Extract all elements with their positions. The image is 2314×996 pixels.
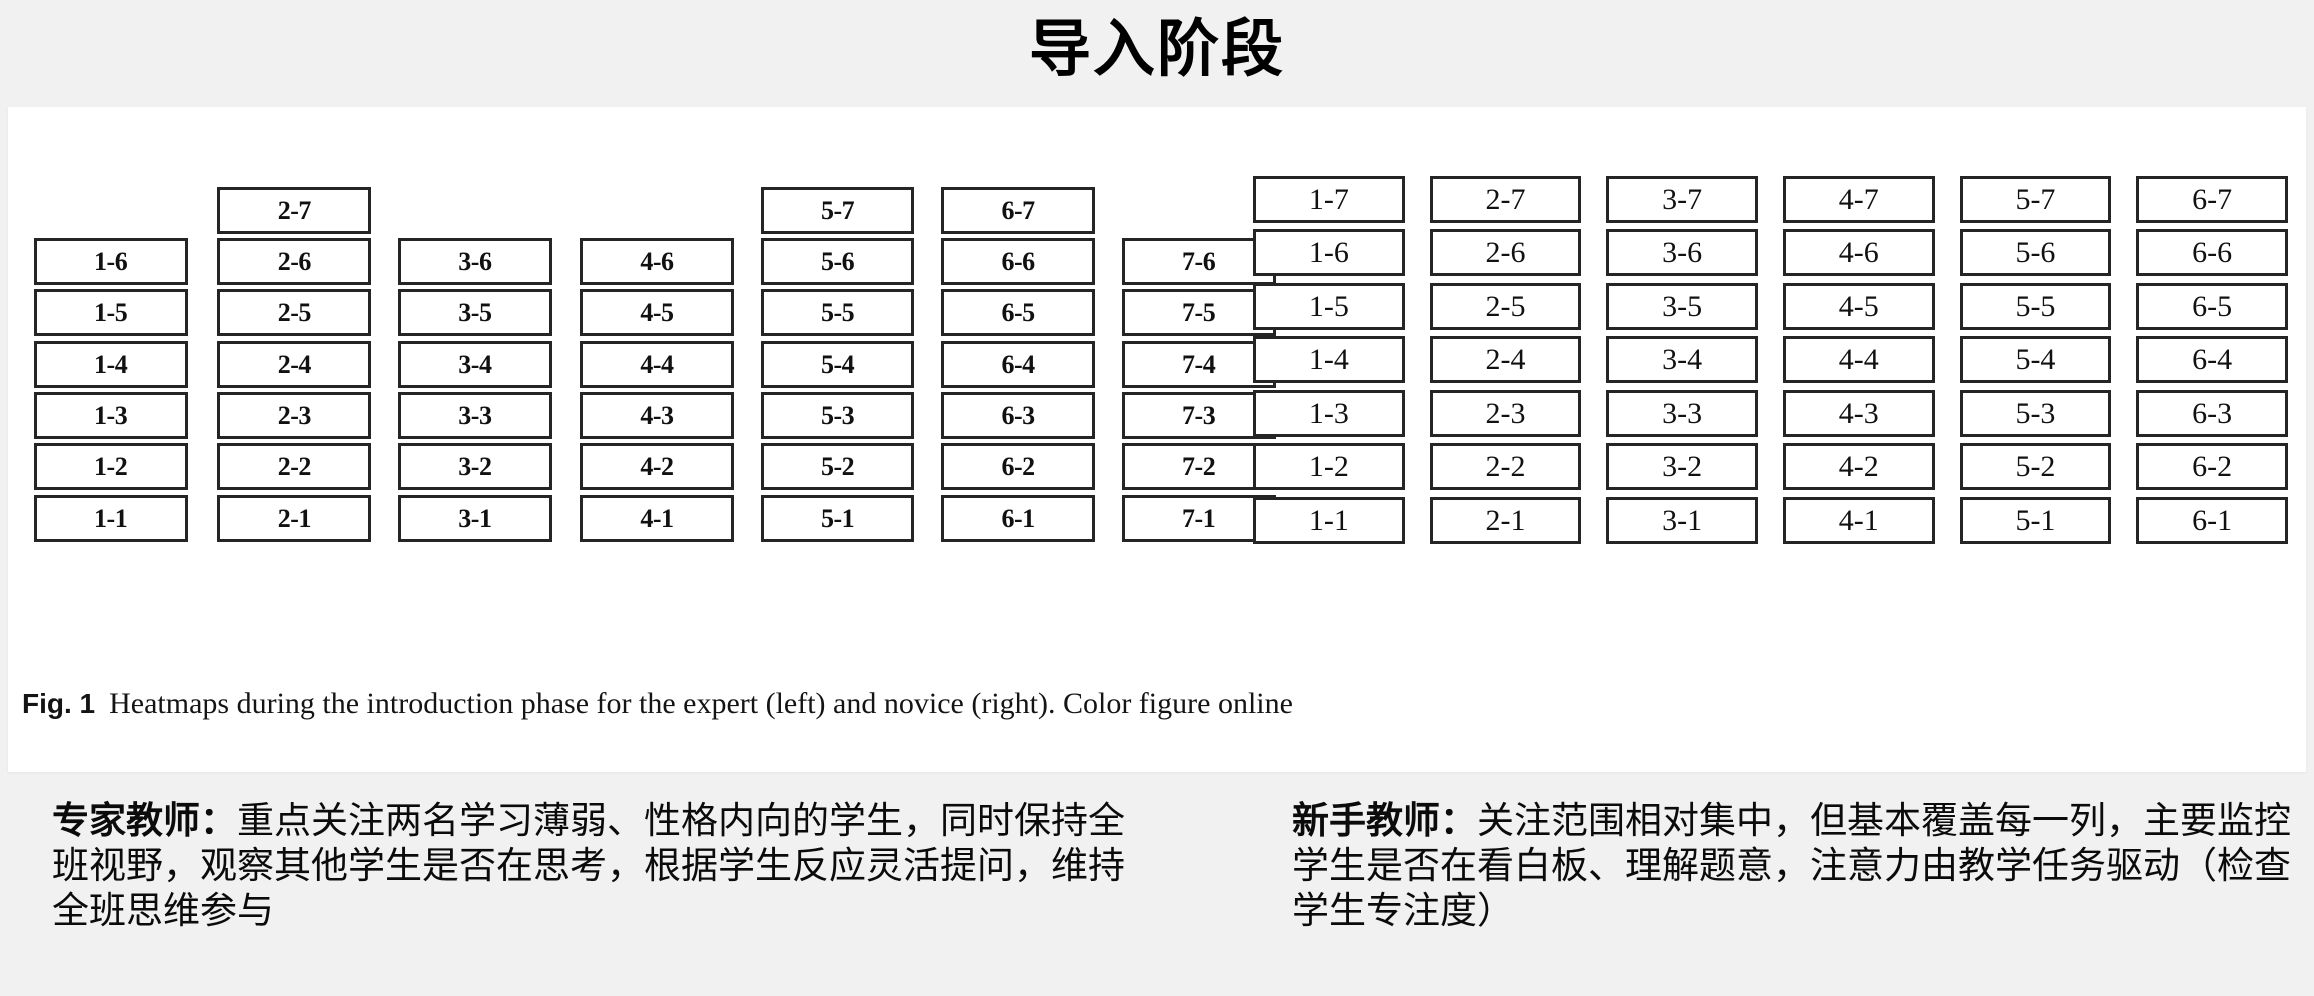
seat-cell[interactable]: 3-3 [1606, 390, 1758, 437]
seat-cell[interactable]: 6-7 [941, 187, 1095, 234]
seat-label: 4-2 [640, 454, 673, 480]
seat-cell[interactable]: 2-4 [217, 341, 371, 388]
seat-label: 3-4 [458, 352, 491, 378]
seat-label: 5-2 [2015, 452, 2055, 482]
seat-label: 1-3 [94, 403, 127, 429]
seat-label: 6-6 [1002, 249, 1035, 275]
seat-cell[interactable]: 5-2 [761, 443, 915, 490]
seat-cell[interactable]: 4-5 [580, 289, 734, 336]
seat-cell[interactable]: 1-3 [1253, 390, 1405, 437]
seat-label: 1-6 [94, 249, 127, 275]
seat-label: 3-6 [458, 249, 491, 275]
seat-cell[interactable]: 2-6 [217, 238, 371, 285]
seat-label: 6-4 [1002, 352, 1035, 378]
seat-cell[interactable]: 6-1 [2136, 497, 2288, 544]
seat-label: 2-5 [1486, 292, 1526, 322]
seat-cell[interactable]: 2-7 [217, 187, 371, 234]
seat-cell[interactable]: 5-3 [1960, 390, 2112, 437]
seat-label: 6-5 [2192, 292, 2232, 322]
seat-label: 3-4 [1662, 345, 1702, 375]
seat-label: 6-3 [1002, 403, 1035, 429]
seat-label: 2-2 [1486, 452, 1526, 482]
seat-cell[interactable]: 1-2 [34, 443, 188, 490]
seat-label: 2-5 [278, 300, 311, 326]
seat-label: 2-4 [278, 352, 311, 378]
seat-cell[interactable]: 6-3 [941, 392, 1095, 439]
seat-cell[interactable]: 2-5 [1430, 283, 1582, 330]
seat-label: 7-3 [1182, 403, 1215, 429]
seat-label: 7-5 [1182, 300, 1215, 326]
seat-cell[interactable]: 3-4 [398, 341, 552, 388]
seat-cell[interactable]: 6-4 [941, 341, 1095, 388]
seat-label: 7-2 [1182, 454, 1215, 480]
seat-cell[interactable]: 5-5 [761, 289, 915, 336]
seat-cell[interactable]: 1-6 [34, 238, 188, 285]
seat-cell[interactable]: 2-2 [1430, 443, 1582, 490]
seat-label: 4-7 [1839, 185, 1879, 215]
seat-cell[interactable]: 6-1 [941, 495, 1095, 542]
seat-cell[interactable]: 3-4 [1606, 336, 1758, 383]
seat-label: 4-3 [1839, 399, 1879, 429]
figure-caption: Fig. 1Heatmaps during the introduction p… [22, 687, 2292, 721]
seat-cell[interactable]: 5-1 [1960, 497, 2112, 544]
seat-cell[interactable]: 2-6 [1430, 229, 1582, 276]
seat-label: 3-7 [1662, 185, 1702, 215]
seat-label: 4-5 [1839, 292, 1879, 322]
seat-label: 6-4 [2192, 345, 2232, 375]
seat-label: 6-1 [1002, 506, 1035, 532]
seat-cell[interactable]: 5-1 [761, 495, 915, 542]
seat-label: 2-3 [278, 403, 311, 429]
seat-cell[interactable]: 5-4 [1960, 336, 2112, 383]
seat-label: 2-7 [278, 198, 311, 224]
seat-label: 2-3 [1486, 399, 1526, 429]
seat-label: 6-6 [2192, 238, 2232, 268]
seat-label: 5-1 [2015, 506, 2055, 536]
seat-cell[interactable]: 6-5 [2136, 283, 2288, 330]
seat-label: 1-1 [94, 506, 127, 532]
seat-cell[interactable]: 5-2 [1960, 443, 2112, 490]
seat-cell[interactable]: 1-7 [1253, 176, 1405, 223]
seat-cell[interactable]: 4-5 [1783, 283, 1935, 330]
seat-cell[interactable]: 1-5 [34, 289, 188, 336]
seat-cell[interactable]: 2-1 [1430, 497, 1582, 544]
seat-label: 4-4 [640, 352, 673, 378]
seat-label: 6-5 [1002, 300, 1035, 326]
seat-cell[interactable]: 3-5 [398, 289, 552, 336]
seat-label: 6-1 [2192, 506, 2232, 536]
seat-label: 5-6 [821, 249, 854, 275]
seat-cell[interactable]: 1-5 [1253, 283, 1405, 330]
seat-label: 4-6 [640, 249, 673, 275]
seat-cell[interactable]: 1-3 [34, 392, 188, 439]
note-novice: 新手教师：关注范围相对集中，但基本覆盖每一列，主要监控学生是否在看白板、理解题意… [1292, 798, 2292, 933]
seat-label: 1-2 [94, 454, 127, 480]
seat-label: 3-6 [1662, 238, 1702, 268]
seat-label: 3-3 [458, 403, 491, 429]
seat-cell[interactable]: 3-6 [398, 238, 552, 285]
seat-cell[interactable]: 1-6 [1253, 229, 1405, 276]
seat-label: 1-4 [1309, 345, 1349, 375]
seat-label: 5-1 [821, 506, 854, 532]
seat-cell[interactable]: 6-4 [2136, 336, 2288, 383]
seat-cell[interactable]: 2-3 [217, 392, 371, 439]
seat-label: 5-4 [821, 352, 854, 378]
seat-cell[interactable]: 3-1 [1606, 497, 1758, 544]
seat-cell[interactable]: 3-6 [1606, 229, 1758, 276]
seat-label: 2-6 [1486, 238, 1526, 268]
seat-label: 5-4 [2015, 345, 2055, 375]
seat-label: 6-2 [1002, 454, 1035, 480]
seat-cell[interactable]: 6-5 [941, 289, 1095, 336]
seat-cell[interactable]: 5-4 [761, 341, 915, 388]
seat-label: 1-7 [1309, 185, 1349, 215]
seat-label: 3-1 [458, 506, 491, 532]
seat-label: 3-3 [1662, 399, 1702, 429]
seat-label: 1-4 [94, 352, 127, 378]
seat-cell[interactable]: 2-1 [217, 495, 371, 542]
seat-label: 1-5 [94, 300, 127, 326]
seat-cell[interactable]: 6-2 [2136, 443, 2288, 490]
seat-label: 5-7 [821, 198, 854, 224]
seat-cell[interactable]: 4-1 [580, 495, 734, 542]
heatmap-panel-expert: 2-75-76-71-62-63-64-65-66-67-61-52-53-54… [18, 107, 1213, 667]
seat-cell[interactable]: 6-7 [2136, 176, 2288, 223]
seat-label: 2-4 [1486, 345, 1526, 375]
figure-card: 2-75-76-71-62-63-64-65-66-67-61-52-53-54… [8, 107, 2306, 772]
seat-label: 5-3 [821, 403, 854, 429]
seat-label: 3-1 [1662, 506, 1702, 536]
seat-label: 2-1 [1486, 506, 1526, 536]
seat-cell[interactable]: 1-2 [1253, 443, 1405, 490]
seat-label: 4-3 [640, 403, 673, 429]
seat-cell[interactable]: 3-2 [1606, 443, 1758, 490]
seat-label: 1-6 [1309, 238, 1349, 268]
seat-cell[interactable]: 6-2 [941, 443, 1095, 490]
seat-label: 4-1 [640, 506, 673, 532]
heatmap-panel-novice: 1-72-73-74-75-76-71-62-63-64-65-66-61-52… [1253, 107, 2298, 667]
seat-cell[interactable]: 4-3 [1783, 390, 1935, 437]
seat-cell[interactable]: 4-4 [580, 341, 734, 388]
seat-cell[interactable]: 1-4 [1253, 336, 1405, 383]
seat-label: 4-6 [1839, 238, 1879, 268]
seat-label: 4-2 [1839, 452, 1879, 482]
seat-cell[interactable]: 5-7 [1960, 176, 2112, 223]
seat-cell[interactable]: 3-5 [1606, 283, 1758, 330]
seat-cell[interactable]: 1-1 [1253, 497, 1405, 544]
seat-label: 7-4 [1182, 352, 1215, 378]
seat-label: 5-6 [2015, 238, 2055, 268]
seat-label: 4-1 [1839, 506, 1879, 536]
seat-cell[interactable]: 5-7 [761, 187, 915, 234]
seat-cell[interactable]: 4-2 [580, 443, 734, 490]
seat-label: 4-4 [1839, 345, 1879, 375]
seat-label: 3-5 [1662, 292, 1702, 322]
seat-cell[interactable]: 6-3 [2136, 390, 2288, 437]
seat-label: 3-5 [458, 300, 491, 326]
seat-cell[interactable]: 1-1 [34, 495, 188, 542]
seat-label: 5-7 [2015, 185, 2055, 215]
seat-label: 2-1 [278, 506, 311, 532]
seat-label: 5-2 [821, 454, 854, 480]
seat-cell[interactable]: 3-1 [398, 495, 552, 542]
seat-label: 6-2 [2192, 452, 2232, 482]
seat-label: 5-3 [2015, 399, 2055, 429]
seat-cell[interactable]: 4-6 [1783, 229, 1935, 276]
seat-cell[interactable]: 4-1 [1783, 497, 1935, 544]
seat-label: 2-7 [1486, 185, 1526, 215]
seat-label: 1-3 [1309, 399, 1349, 429]
seat-label: 6-3 [2192, 399, 2232, 429]
seat-label: 7-6 [1182, 249, 1215, 275]
seat-label: 7-1 [1182, 506, 1215, 532]
seat-label: 1-1 [1309, 506, 1349, 536]
seat-cell[interactable]: 6-6 [941, 238, 1095, 285]
seat-cell[interactable]: 2-2 [217, 443, 371, 490]
figure-caption-text: Heatmaps during the introduction phase f… [109, 687, 1293, 720]
seat-label: 2-2 [278, 454, 311, 480]
seat-cell[interactable]: 4-4 [1783, 336, 1935, 383]
seat-cell[interactable]: 3-3 [398, 392, 552, 439]
page-title: 导入阶段 [0, 0, 2314, 100]
seat-cell[interactable]: 6-6 [2136, 229, 2288, 276]
seat-cell[interactable]: 2-7 [1430, 176, 1582, 223]
seat-cell[interactable]: 4-3 [580, 392, 734, 439]
seat-label: 1-5 [1309, 292, 1349, 322]
seat-cell[interactable]: 5-6 [1960, 229, 2112, 276]
seat-cell[interactable]: 5-5 [1960, 283, 2112, 330]
seat-label: 5-5 [821, 300, 854, 326]
seat-cell[interactable]: 5-6 [761, 238, 915, 285]
seat-label: 5-5 [2015, 292, 2055, 322]
seat-label: 6-7 [2192, 185, 2232, 215]
seat-cell[interactable]: 4-6 [580, 238, 734, 285]
seat-label: 2-6 [278, 249, 311, 275]
seat-cell[interactable]: 2-5 [217, 289, 371, 336]
note-expert-label: 专家教师： [52, 800, 237, 841]
note-expert: 专家教师：重点关注两名学习薄弱、性格内向的学生，同时保持全班视野，观察其他学生是… [52, 798, 1142, 933]
seat-label: 1-2 [1309, 452, 1349, 482]
note-novice-label: 新手教师： [1292, 800, 1477, 841]
seat-label: 4-5 [640, 300, 673, 326]
seat-cell[interactable]: 2-3 [1430, 390, 1582, 437]
seat-cell[interactable]: 2-4 [1430, 336, 1582, 383]
seat-label: 6-7 [1002, 198, 1035, 224]
seat-label: 3-2 [458, 454, 491, 480]
seat-label: 3-2 [1662, 452, 1702, 482]
seat-cell[interactable]: 5-3 [761, 392, 915, 439]
seat-cell[interactable]: 1-4 [34, 341, 188, 388]
seat-cell[interactable]: 3-7 [1606, 176, 1758, 223]
seat-cell[interactable]: 3-2 [398, 443, 552, 490]
figure-number: Fig. 1 [22, 688, 95, 719]
seat-cell[interactable]: 4-2 [1783, 443, 1935, 490]
seat-cell[interactable]: 4-7 [1783, 176, 1935, 223]
